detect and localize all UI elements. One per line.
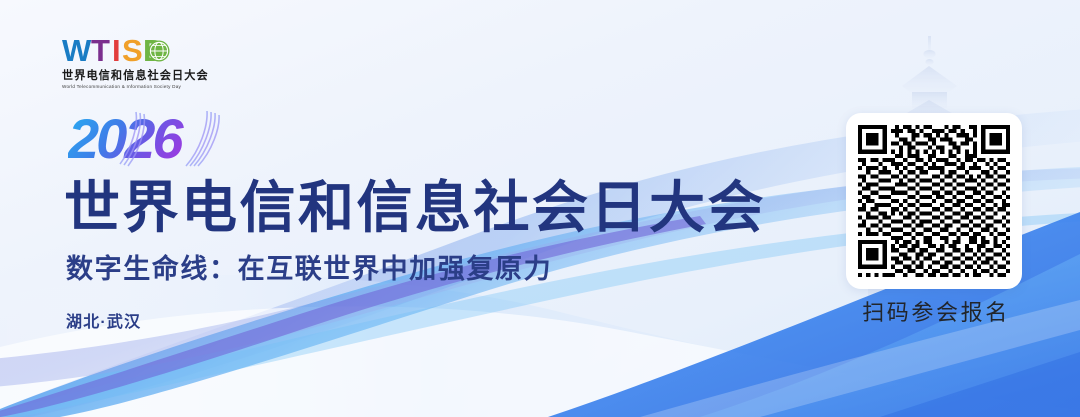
qr-code-card[interactable] [846, 113, 1022, 289]
page-title: 世界电信和信息社会日大会 [64, 177, 766, 239]
logo-english-name: World Telecommunication & Information So… [62, 84, 212, 90]
svg-text:I: I [112, 34, 120, 68]
page-subtitle: 数字生命线：在互联世界中加强复原力 [66, 252, 552, 286]
qr-code-image[interactable] [858, 125, 1010, 277]
logo-chinese-name: 世界电信和信息社会日大会 [62, 70, 208, 83]
svg-text:S: S [122, 34, 142, 68]
wtisd-logo: W T I S D 世界电信和信息社会日大会 World Telecommuni… [62, 34, 212, 90]
globe-icon [149, 41, 170, 62]
qr-code-caption: 扫码参会报名 [843, 298, 1029, 328]
wtisd-2026-conference-banner: W T I S D 世界电信和信息社会日大会 World Telecommuni… [0, 0, 1080, 417]
year-2026-icon: 2026 [68, 108, 238, 170]
svg-text:W: W [62, 34, 92, 68]
year-2026: 2026 [68, 108, 238, 170]
event-location: 湖北·武汉 [66, 312, 141, 334]
wtisd-wordmark-icon: W T I S D [62, 34, 208, 68]
svg-text:T: T [91, 34, 110, 68]
